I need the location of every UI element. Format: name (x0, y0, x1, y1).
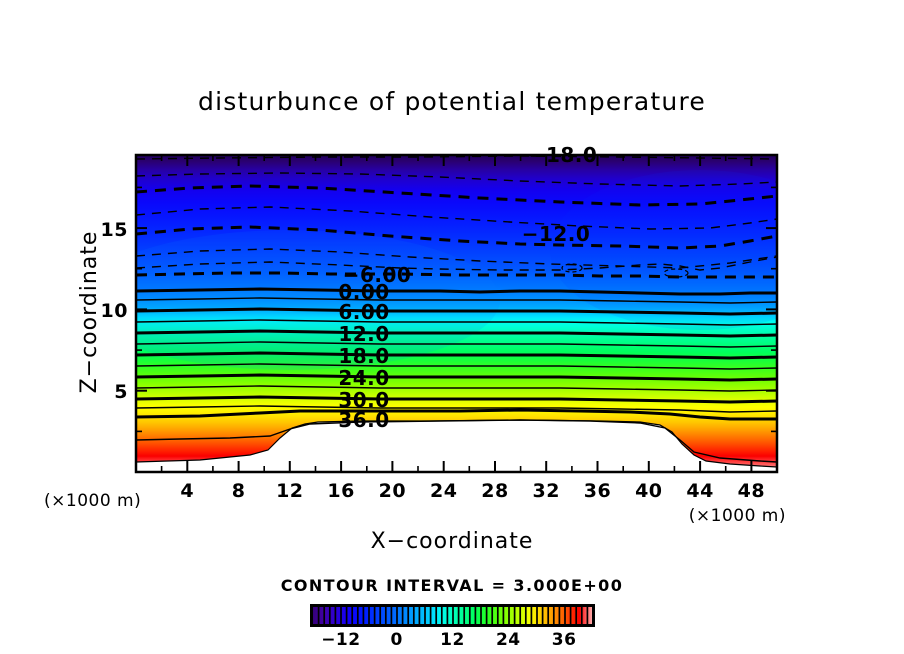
y-tick-label-10: 10 (101, 300, 128, 322)
colorbar-caption: CONTOUR INTERVAL = 3.000E+00 (281, 576, 623, 595)
contour-label-6: 6.00 (338, 300, 389, 324)
colorbar-tick-0: 0 (391, 630, 403, 650)
x-axis-units: (×1000 m) (689, 506, 786, 526)
contour-label-18: 18.0 (338, 344, 389, 368)
x-tick-label-24: 24 (430, 480, 457, 502)
y-tick-label-5: 5 (114, 381, 128, 403)
colorbar: CONTOUR INTERVAL = 3.000E+00 (281, 576, 623, 650)
x-tick-label-20: 20 (379, 480, 406, 502)
x-tick-label-40: 40 (635, 480, 662, 502)
x-tick-label-16: 16 (327, 480, 354, 502)
contour-label-minus12: −12.0 (522, 222, 591, 246)
x-tick-label-12: 12 (276, 480, 303, 502)
colorbar-tick-12: 12 (440, 630, 465, 650)
y-axis-label: Z−coordinate (77, 231, 102, 394)
x-tick-label-36: 36 (584, 480, 611, 502)
contour-label-12: 12.0 (338, 322, 389, 346)
y-axis-units: (×1000 m) (44, 491, 141, 511)
contour-plot-figure: disturbunce of potential temperature (0, 0, 904, 654)
x-tick-label-32: 32 (532, 480, 559, 502)
colorbar-tick-minus12: −12 (321, 630, 360, 650)
colorbar-tick-24: 24 (496, 630, 521, 650)
y-tick-label-15: 15 (101, 219, 128, 241)
page-title: disturbunce of potential temperature (198, 87, 706, 116)
contour-label-36: 36.0 (338, 408, 389, 432)
colorbar-tick-36: 36 (552, 630, 577, 650)
x-tick-label-44: 44 (686, 480, 713, 502)
plot-area: −18.0 −12.0 −6.00 0.00 6.00 12.0 18.0 24… (80, 143, 850, 472)
x-tick-label-28: 28 (481, 480, 508, 502)
contour-label-24: 24.0 (338, 366, 389, 390)
contour-fill-field (80, 155, 850, 472)
x-tick-label-8: 8 (232, 480, 246, 502)
contour-label-minus18: −18.0 (529, 143, 598, 167)
x-axis-label: X−coordinate (371, 529, 534, 554)
x-tick-label-48: 48 (738, 480, 765, 502)
x-tick-label-4: 4 (180, 480, 194, 502)
